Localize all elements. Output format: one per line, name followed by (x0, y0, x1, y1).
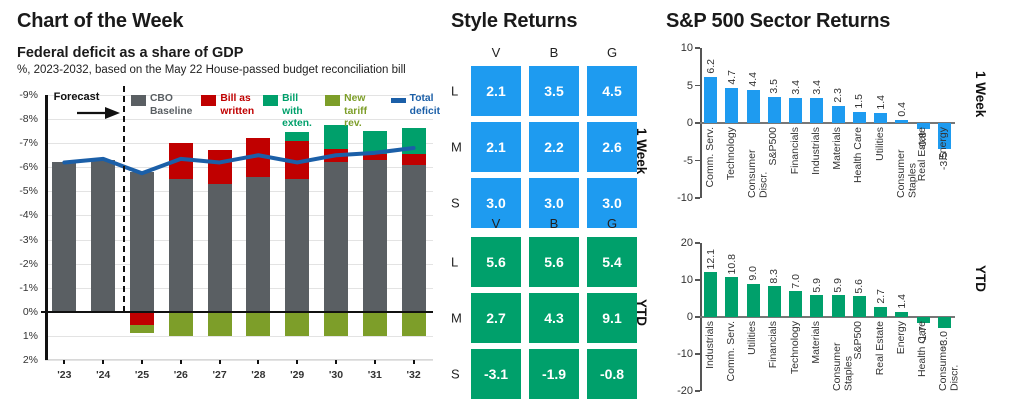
forecast-divider (123, 86, 125, 312)
style-col-header: B (550, 216, 559, 231)
y-axis-tick (695, 242, 700, 244)
sector-bar-value: 4.7 (726, 70, 738, 85)
sector-bar (725, 88, 738, 123)
sector-bar-category: Materials (811, 321, 823, 364)
sector-bar-value: 5.6 (853, 279, 865, 294)
y-axis-label: -10 (677, 348, 693, 360)
x-axis-tick (141, 360, 143, 364)
y-axis-label: 20 (681, 237, 693, 249)
legend-item: Total deficit (391, 93, 440, 131)
y-axis-label: 1% (23, 330, 38, 342)
sector-bar (704, 77, 717, 124)
style-col-header: G (607, 45, 617, 60)
sector-bar (747, 284, 760, 317)
style-cell[interactable]: 2.2 (529, 122, 579, 172)
x-axis-tick (413, 360, 415, 364)
sector-bar (768, 286, 781, 317)
style-cell[interactable]: 9.1 (587, 293, 637, 343)
x-axis-label: '24 (96, 369, 110, 381)
sector-chart-1week: 1050-5-106.2Comm. Serv.4.7Technology4.4C… (700, 48, 955, 198)
legend-label: Bill with exten. (282, 93, 316, 131)
sector-bar (895, 312, 908, 317)
y-axis-tick (695, 390, 700, 392)
sector-bar-value: 3.4 (811, 80, 823, 95)
y-axis-label: -3% (19, 234, 38, 246)
style-panel-tag: 1 Week (634, 128, 649, 174)
sector-bar-category: Health Care (917, 321, 929, 377)
sector-bar-category: Financials (790, 127, 802, 174)
x-axis-tick (374, 360, 376, 364)
y-axis-label: 0% (23, 306, 38, 318)
style-row-header: L (451, 84, 458, 99)
sector-bar (704, 272, 717, 317)
x-axis-label: '30 (329, 369, 343, 381)
sector-bar-category: Comm. Serv. (705, 127, 717, 187)
sector-bar (789, 291, 802, 317)
sector-bar (874, 113, 887, 124)
x-axis-tick (257, 360, 259, 364)
y-axis-label: -4% (19, 209, 38, 221)
sector-returns-title: S&P 500 Sector Returns (666, 10, 890, 33)
x-axis-label: '31 (368, 369, 382, 381)
sector-bar (747, 90, 760, 123)
y-axis-label: -7% (19, 137, 38, 149)
sector-bar-value: 6.2 (705, 59, 717, 74)
style-row-header: M (451, 140, 462, 155)
sector-bar-value: 9.0 (747, 266, 759, 281)
sector-bar-category: S&P500 (768, 127, 780, 166)
style-panel-tag: YTD (634, 299, 649, 326)
style-col-header: G (607, 216, 617, 231)
y-axis-tick (695, 160, 700, 162)
y-axis-tick (695, 47, 700, 49)
y-axis-label: -9% (19, 89, 38, 101)
y-axis-tick (695, 197, 700, 199)
y-axis-label: -5 (683, 155, 693, 167)
sector-bar (874, 307, 887, 317)
sector-bar-category: Utilities (747, 321, 759, 355)
sector-bar-category: S&P500 (853, 321, 865, 360)
sector-bar-value: 8.3 (768, 269, 780, 284)
style-row-header: S (451, 196, 460, 211)
style-row-header: M (451, 311, 462, 326)
sector-bar-category: Real Estate (917, 127, 929, 181)
x-axis-tick (63, 360, 65, 364)
sector-bar-value: 0.4 (896, 102, 908, 117)
sector-bar-category: Technology (726, 127, 738, 180)
style-col-header: V (492, 45, 501, 60)
style-col-header: V (492, 216, 501, 231)
legend-label: New tariff rev. (344, 93, 382, 131)
style-cell[interactable]: 4.5 (587, 66, 637, 116)
sector-bar-value: 5.9 (811, 278, 823, 293)
legend-swatch-0 (131, 95, 146, 106)
style-cell[interactable]: 5.4 (587, 237, 637, 287)
sector-bar (853, 112, 866, 123)
y-axis-label: 10 (681, 274, 693, 286)
y-axis-label: 2% (23, 354, 38, 366)
legend-label: Total deficit (410, 93, 440, 118)
legend-item: Bill with exten. (263, 93, 316, 131)
sector-bar-category: Industrials (811, 127, 823, 175)
sector-bar-value: 3.5 (768, 79, 780, 94)
chart-title: Federal deficit as a share of GDP (17, 45, 243, 61)
y-axis-label: -6% (19, 161, 38, 173)
sector-bar (832, 295, 845, 317)
y-axis-label: 5 (687, 80, 693, 92)
style-returns-title: Style Returns (451, 10, 577, 33)
sector-bar-category: Financials (768, 321, 780, 368)
sector-bar (725, 277, 738, 317)
style-cell[interactable]: 2.1 (471, 122, 521, 172)
style-cell[interactable]: -3.1 (471, 349, 521, 399)
style-cell[interactable]: 3.5 (529, 66, 579, 116)
legend-swatch-1 (201, 95, 216, 106)
y-axis-tick (695, 279, 700, 281)
y-axis-label: -5% (19, 185, 38, 197)
style-row-header: S (451, 367, 460, 382)
style-grid-ytd: VBGL5.65.65.4M2.74.39.1S-3.1-1.9-0.8YTD (443, 216, 648, 376)
sector-bar-value: 2.3 (832, 88, 844, 103)
sector-bar-category: Energy (896, 321, 908, 354)
sector-bar-category: Industrials (705, 321, 717, 369)
legend-item: New tariff rev. (325, 93, 382, 131)
section-title: Chart of the Week (17, 10, 183, 33)
sector-bar (810, 98, 823, 124)
style-row-header: L (451, 255, 458, 270)
sector-panel-tag: YTD (973, 265, 988, 292)
x-axis-tick (180, 360, 182, 364)
y-axis-label: -1% (19, 282, 38, 294)
sector-bar-value: 10.8 (726, 254, 738, 274)
sector-bar-category: Health Care (853, 127, 865, 183)
sector-bar-value: 5.9 (832, 278, 844, 293)
sector-bar-category: Utilities (875, 127, 887, 161)
sector-bar-value: 1.5 (853, 94, 865, 109)
x-axis-label: '25 (135, 369, 149, 381)
style-cell[interactable]: -1.9 (529, 349, 579, 399)
forecast-arrow-icon (75, 105, 121, 121)
style-col-header: B (550, 45, 559, 60)
legend-label: CBO Baseline (150, 93, 192, 118)
sector-bar-value: 7.0 (790, 274, 802, 289)
x-axis-tick (102, 360, 104, 364)
sector-panel-tag: 1 Week (973, 71, 988, 117)
x-axis-label: '28 (251, 369, 265, 381)
x-axis-tick (219, 360, 221, 364)
sector-bar-category: Real Estate (875, 321, 887, 375)
legend-label: Bill as written (220, 93, 254, 118)
style-returns-panel: Style Returns VBGL2.13.54.5M2.12.22.6S3.… (443, 0, 648, 405)
x-axis-tick (335, 360, 337, 364)
deficit-plot-area: -9%-8%-7%-6%-5%-4%-3%-2%-1%0%1%2%'23'24'… (45, 95, 433, 360)
x-axis-tick (296, 360, 298, 364)
y-axis-label: 0 (687, 117, 693, 129)
style-cell[interactable]: 2.6 (587, 122, 637, 172)
sector-chart-ytd: 20100-10-2012.1Industrials10.8Comm. Serv… (700, 243, 955, 391)
sector-bar (789, 98, 802, 124)
x-axis-label: '27 (213, 369, 227, 381)
style-cell[interactable]: 2.7 (471, 293, 521, 343)
sector-bar-category: Consumer Discr. (938, 321, 961, 391)
sector-bar-category: Comm. Serv. (726, 321, 738, 381)
legend-swatch-3 (325, 95, 340, 106)
sector-bar-value: 12.1 (705, 249, 717, 269)
sector-bar-value: 2.7 (875, 289, 887, 304)
total-deficit-line (45, 95, 433, 360)
y-axis-tick (695, 85, 700, 87)
y-axis-label: -8% (19, 113, 38, 125)
y-axis-label: -10 (677, 192, 693, 204)
legend-item: CBO Baseline (131, 93, 192, 131)
sector-bar-value: 1.4 (875, 95, 887, 110)
y-axis-label: -20 (677, 385, 693, 397)
sector-bar-value: 1.4 (896, 294, 908, 309)
y-axis-label: 0 (687, 311, 693, 323)
sector-bar-value: 3.4 (790, 80, 802, 95)
style-cell[interactable]: 4.3 (529, 293, 579, 343)
style-cell[interactable]: 5.6 (471, 237, 521, 287)
style-grid-1week: VBGL2.13.54.5M2.12.22.6S3.03.03.01 Week (443, 45, 648, 205)
sector-bar (853, 296, 866, 317)
legend-swatch-2 (263, 95, 278, 106)
legend-swatch-4 (391, 98, 406, 103)
style-cell[interactable]: -0.8 (587, 349, 637, 399)
sector-bar (810, 295, 823, 317)
sector-bar (832, 106, 845, 123)
sector-bar-category: Energy (938, 127, 950, 160)
deficit-legend: CBO BaselineBill as writtenBill with ext… (131, 93, 440, 131)
sector-bar (768, 97, 781, 123)
sector-bar-value: 4.4 (747, 72, 759, 87)
sector-bar-category: Technology (790, 321, 802, 374)
x-axis-label: '26 (174, 369, 188, 381)
y-axis-line (45, 95, 48, 360)
zero-line (41, 311, 433, 313)
x-axis-label: '29 (290, 369, 304, 381)
y-axis-label: 10 (681, 42, 693, 54)
style-cell[interactable]: 5.6 (529, 237, 579, 287)
y-axis-tick (695, 353, 700, 355)
sector-returns-panel: S&P 500 Sector Returns 1050-5-106.2Comm.… (648, 0, 1011, 405)
y-axis-label: -2% (19, 258, 38, 270)
sector-bar-category: Materials (832, 127, 844, 170)
deficit-chart-panel: Chart of the Week Federal deficit as a s… (0, 0, 440, 405)
x-axis-label: '32 (407, 369, 421, 381)
x-axis-label: '23 (57, 369, 71, 381)
legend-item: Bill as written (201, 93, 254, 131)
sector-bar (895, 120, 908, 123)
chart-subtitle: %, 2023-2032, based on the May 22 House-… (17, 64, 406, 76)
style-cell[interactable]: 2.1 (471, 66, 521, 116)
